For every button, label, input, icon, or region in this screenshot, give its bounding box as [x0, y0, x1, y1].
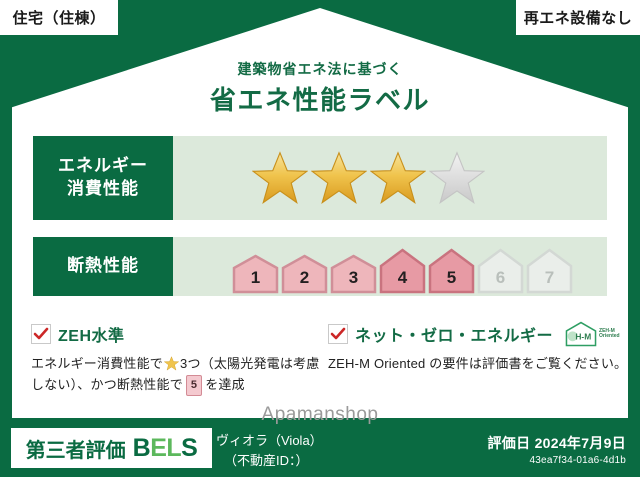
bels-logo-jp: 第三者評価 — [26, 434, 126, 463]
energy-performance-value-box — [173, 136, 607, 220]
star-rating — [252, 151, 485, 205]
label-subtitle: 建築物省エネ法に基づく — [0, 59, 640, 79]
house-icon — [281, 254, 328, 294]
zeh-body-part1: エネルギー消費性能で — [31, 356, 163, 371]
property-info: ヴィオラ（Viola） （不動産ID：） — [216, 431, 323, 470]
energy-performance-row: エネルギー 消費性能 — [33, 136, 607, 220]
energy-performance-label: 住宅（住棟） 再エネ設備なし 建築物省エネ法に基づく 省エネ性能ラベル エネルギ… — [0, 0, 640, 477]
bels-letter-l: L — [166, 434, 181, 462]
net-zero-energy-note: ネット・ゼロ・エネルギー H-M ZEH-M Oriented ZEH-M Or… — [328, 322, 628, 374]
house-icon-empty — [526, 248, 573, 294]
zeh-standard-note: ZEH水準 エネルギー消費性能で3つ（太陽光発電は考慮しない）、かつ断熱性能で5… — [31, 322, 321, 396]
star-icon-empty — [429, 151, 485, 205]
energy-label-line2: 消費性能 — [67, 178, 139, 201]
star-icon — [311, 151, 367, 205]
insulation-level-badge: 5 — [186, 375, 202, 395]
energy-label-line1: エネルギー — [58, 155, 148, 178]
house-icon — [232, 254, 279, 294]
insulation-level-7: 7 — [526, 248, 573, 294]
evaluation-info: 評価日 2024年7月9日 43ea7f34-01a6-4d1b — [487, 433, 626, 466]
bels-logo: 第三者評価 BELS — [11, 428, 212, 468]
watermark: Apamanshop — [0, 404, 640, 426]
zeh-standard-title: ZEH水準 — [58, 322, 125, 346]
net-zero-energy-heading: ネット・ゼロ・エネルギー H-M ZEH-M Oriented — [328, 322, 628, 346]
house-icon — [379, 248, 426, 294]
bels-letter-b: B — [133, 434, 151, 462]
energy-performance-label-box: エネルギー 消費性能 — [33, 136, 173, 220]
renewable-equipment-tag: 再エネ設備なし — [516, 0, 640, 35]
insulation-level-2: 2 — [281, 254, 328, 294]
bels-logo-en: BELS — [133, 434, 198, 463]
evaluation-date: 評価日 2024年7月9日 — [487, 433, 626, 453]
bels-letter-e: E — [150, 434, 166, 462]
insulation-level-3: 3 — [330, 254, 377, 294]
net-zero-energy-title: ネット・ゼロ・エネルギー — [355, 322, 553, 346]
insulation-performance-value-box: 1 2 3 4 — [173, 237, 607, 296]
svg-text:H-M: H-M — [575, 331, 591, 341]
property-id: （不動産ID：） — [216, 451, 323, 471]
zeh-standard-heading: ZEH水準 — [31, 322, 321, 346]
net-zero-energy-body: ZEH-M Oriented の要件は評価書をご覧ください。 — [328, 353, 628, 374]
insulation-level-1: 1 — [232, 254, 279, 294]
house-icon — [428, 248, 475, 294]
insulation-performance-label-box: 断熱性能 — [33, 237, 173, 296]
building-type-tag: 住宅（住棟） — [0, 0, 118, 35]
zeh-m-oriented-logo: H-M ZEH-M Oriented — [564, 321, 620, 347]
house-icon — [330, 254, 377, 294]
check-icon — [328, 324, 348, 344]
insulation-level-6: 6 — [477, 248, 524, 294]
insulation-level-scale: 1 2 3 4 — [232, 235, 573, 299]
zeh-m-logo-sub-line2: Oriented — [599, 334, 620, 339]
label-title: 省エネ性能ラベル — [0, 80, 640, 117]
zeh-m-house-icon: H-M — [564, 321, 598, 347]
evaluation-id: 43ea7f34-01a6-4d1b — [487, 455, 626, 466]
footer-bar: 第三者評価 BELS ヴィオラ（Viola） （不動産ID：） 評価日 2024… — [0, 425, 640, 477]
property-name: ヴィオラ（Viola） — [216, 431, 323, 451]
star-icon — [164, 356, 179, 371]
insulation-level-5: 5 — [428, 248, 475, 294]
zeh-body-part3: を達成 — [205, 377, 245, 392]
check-icon — [31, 324, 51, 344]
bels-letter-s: S — [181, 434, 197, 462]
star-icon — [370, 151, 426, 205]
star-icon — [252, 151, 308, 205]
insulation-level-4: 4 — [379, 248, 426, 294]
insulation-label-text: 断熱性能 — [67, 255, 139, 278]
house-icon-empty — [477, 248, 524, 294]
zeh-standard-body: エネルギー消費性能で3つ（太陽光発電は考慮しない）、かつ断熱性能で5を達成 — [31, 353, 321, 396]
insulation-performance-row: 断熱性能 1 2 — [33, 237, 607, 296]
